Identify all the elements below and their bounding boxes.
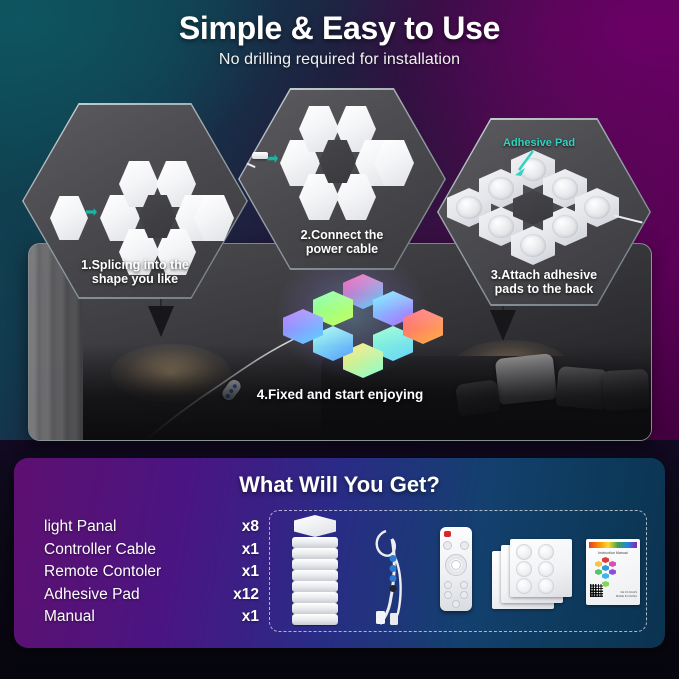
hex-tile-single xyxy=(50,196,88,240)
pad-dot xyxy=(516,544,532,560)
stack-layer xyxy=(292,592,338,603)
pad-dot xyxy=(516,561,532,577)
room-caption: 4.Fixed and start enjoying xyxy=(29,387,651,402)
instruction-manual-photo: Instruction Manual CE FC RoHS MADE IN CH… xyxy=(586,539,640,605)
pad-dot xyxy=(538,544,554,560)
stack-layer xyxy=(292,614,338,625)
stack-layer xyxy=(292,570,338,581)
package-title: What Will You Get? xyxy=(14,472,665,498)
manual-rainbow-bar xyxy=(589,542,637,548)
stack-layer xyxy=(292,603,338,614)
page-subtitle: No drilling required for installation xyxy=(0,51,679,69)
item-name: Controller Cable xyxy=(44,541,156,559)
remote-key-green xyxy=(460,591,468,599)
infographic-stage: Simple & Easy to Use No drilling require… xyxy=(0,0,679,679)
pad-dot xyxy=(516,578,532,594)
manual-hex-swatch xyxy=(595,569,602,575)
cable-button xyxy=(390,575,397,582)
item-name: Remote Contoler xyxy=(44,563,161,581)
top-hex-panel xyxy=(294,515,336,537)
remote-key-red xyxy=(444,591,452,599)
qr-code-icon xyxy=(590,584,603,597)
item-qty: x8 xyxy=(242,518,259,536)
page-title: Simple & Easy to Use xyxy=(0,10,679,47)
item-qty: x1 xyxy=(242,541,259,559)
package-item-list: light Panal x8 Controller Cable x1 Remot… xyxy=(44,518,259,631)
product-photo-area: Instruction Manual CE FC RoHS MADE IN CH… xyxy=(269,510,647,632)
item-qty: x1 xyxy=(242,563,259,581)
item-name: light Panal xyxy=(44,518,116,536)
rgb-hexagon-cluster xyxy=(303,274,453,384)
list-item: Manual x1 xyxy=(44,608,259,626)
manual-footer: CE FC RoHS MADE IN CHINA xyxy=(616,590,637,598)
cable-button xyxy=(390,565,397,572)
manual-hex-swatch xyxy=(602,557,609,563)
item-name: Manual xyxy=(44,608,95,626)
remote-key xyxy=(460,581,468,589)
manual-hex-swatch xyxy=(595,561,602,567)
cable-button xyxy=(390,555,397,562)
pad-sheet xyxy=(510,539,572,597)
remote-dial xyxy=(445,554,467,576)
pad-dot xyxy=(538,561,554,577)
item-qty: x1 xyxy=(242,608,259,626)
manual-hex-swatch xyxy=(602,565,609,571)
adhesive-pad-sheets-photo xyxy=(492,539,578,609)
remote-key-blue xyxy=(452,600,460,608)
manual-title: Instruction Manual xyxy=(586,551,640,555)
remote-key xyxy=(443,541,452,550)
remote-key xyxy=(444,581,452,589)
header: Simple & Easy to Use No drilling require… xyxy=(0,10,679,69)
light-panel-stack-photo xyxy=(292,529,340,625)
pad-dot xyxy=(538,578,554,594)
item-name: Adhesive Pad xyxy=(44,586,140,604)
manual-hex-swatch xyxy=(602,573,609,579)
stack-layer xyxy=(292,581,338,592)
adhesive-pad-annotation: Adhesive Pad xyxy=(503,137,575,149)
stack-layer xyxy=(292,537,338,548)
connector-tab xyxy=(86,208,97,216)
list-item: light Panal x8 xyxy=(44,518,259,536)
manual-origin: MADE IN CHINA xyxy=(616,594,637,598)
remote-control-photo xyxy=(440,527,472,611)
manual-hex-swatch xyxy=(609,569,616,575)
stack-layer xyxy=(292,559,338,570)
plug-body xyxy=(252,152,268,159)
controller-cable-photo xyxy=(368,525,418,625)
power-button-icon xyxy=(444,531,451,537)
remote-key xyxy=(460,541,469,550)
manual-hex-swatch xyxy=(602,581,609,587)
stack-layer xyxy=(292,548,338,559)
manual-hex-swatch xyxy=(609,561,616,567)
item-qty: x12 xyxy=(233,586,259,604)
list-item: Remote Contoler x1 xyxy=(44,563,259,581)
list-item: Controller Cable x1 xyxy=(44,541,259,559)
package-contents-panel: What Will You Get? light Panal x8 Contro… xyxy=(14,458,665,648)
cable-button xyxy=(390,585,397,592)
list-item: Adhesive Pad x12 xyxy=(44,586,259,604)
